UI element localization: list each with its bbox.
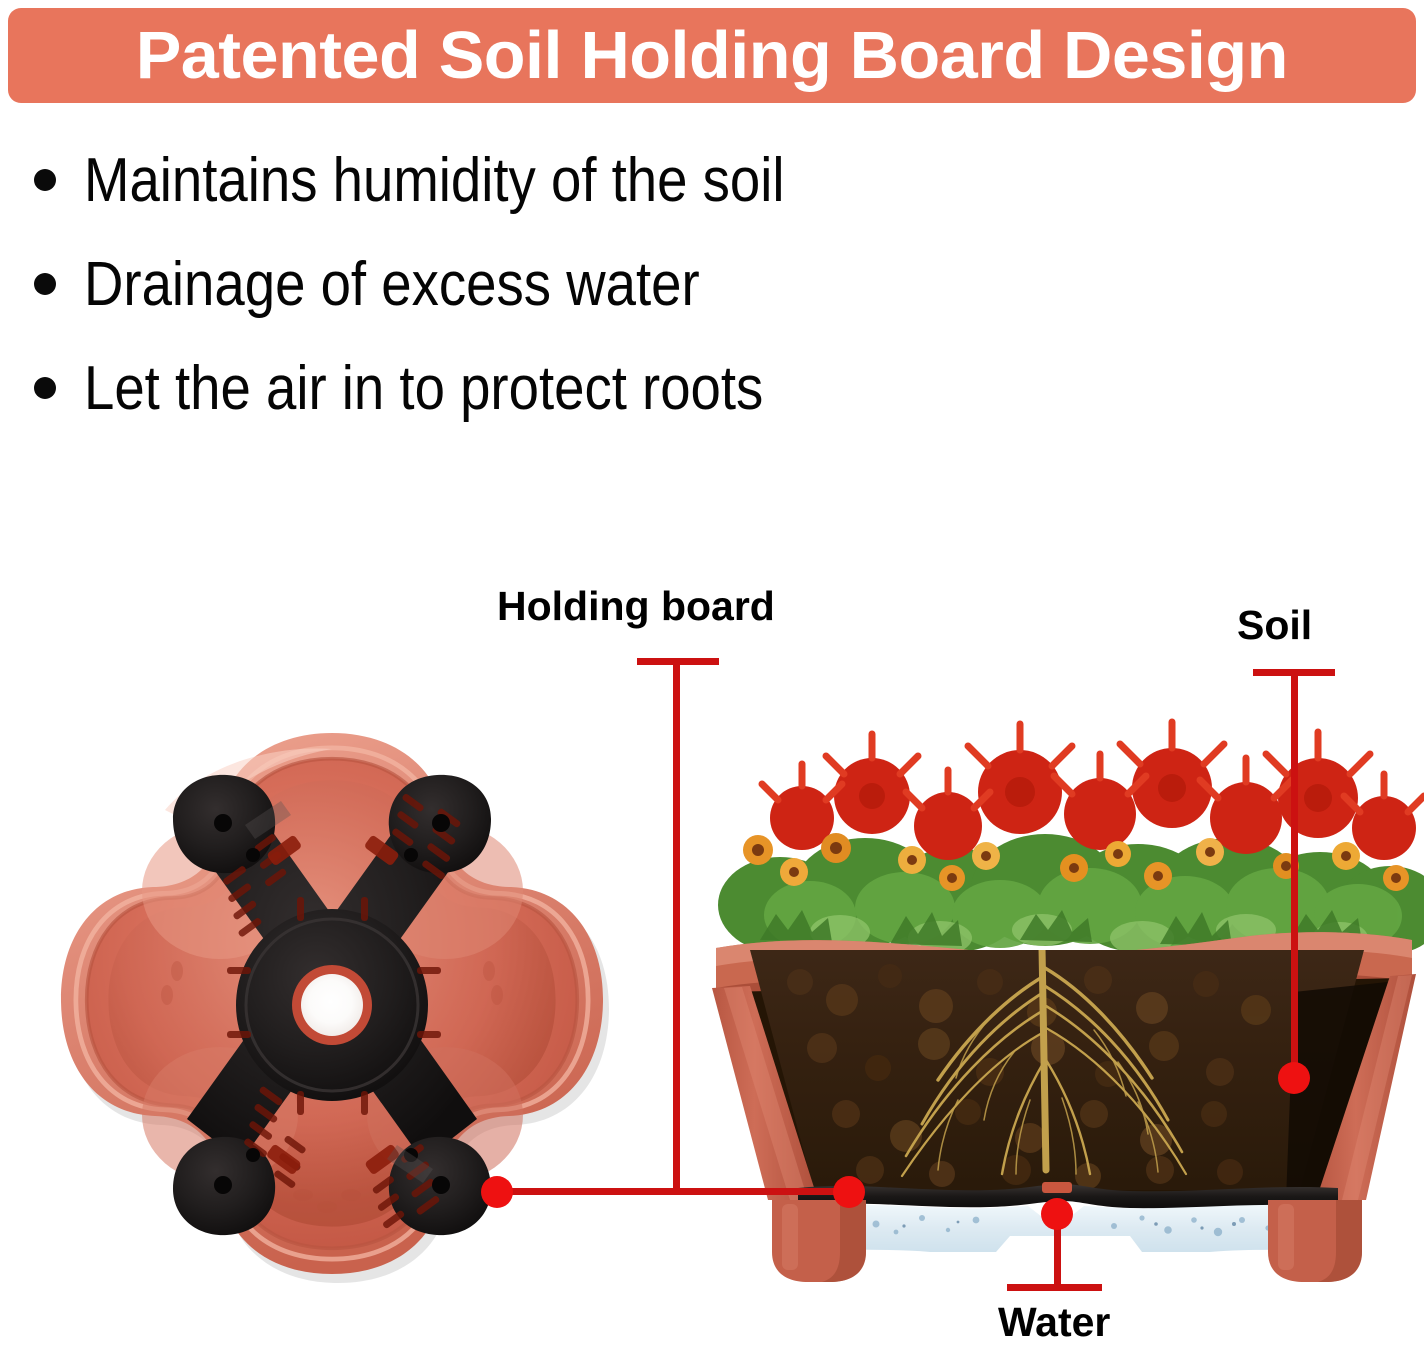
bullet-dot-icon	[34, 273, 56, 295]
page-title: Patented Soil Holding Board Design	[136, 22, 1288, 89]
marker-cross-section-soil	[1278, 1062, 1310, 1094]
callout-label-water: Water	[998, 1302, 1110, 1343]
connector-holding-board-branch	[497, 1188, 851, 1195]
header-banner: Patented Soil Holding Board Design	[8, 8, 1416, 103]
pot-body	[690, 940, 1424, 1210]
list-item: Let the air in to protect roots	[34, 356, 1134, 460]
callout-label-soil: Soil	[1237, 605, 1312, 646]
bullet-dot-icon	[34, 169, 56, 191]
marker-planter-board-left	[481, 1176, 513, 1208]
quatrefoil-planter-top-view	[45, 715, 620, 1293]
marker-cross-section-water-reservoir	[1041, 1198, 1073, 1230]
marker-cross-section-board	[833, 1176, 865, 1208]
list-item: Maintains humidity of the soil	[34, 148, 1134, 252]
feature-text: Let the air in to protect roots	[84, 356, 763, 421]
bullet-dot-icon	[34, 377, 56, 399]
feature-list: Maintains humidity of the soil Drainage …	[34, 148, 1134, 460]
feature-text: Drainage of excess water	[84, 252, 700, 317]
connector-soil-stem	[1291, 669, 1298, 1079]
feature-text: Maintains humidity of the soil	[84, 148, 785, 213]
connector-water-bar	[1007, 1284, 1102, 1291]
callout-label-holding-board: Holding board	[497, 586, 775, 627]
connector-holding-board-stem	[673, 658, 680, 1192]
list-item: Drainage of excess water	[34, 252, 1134, 356]
